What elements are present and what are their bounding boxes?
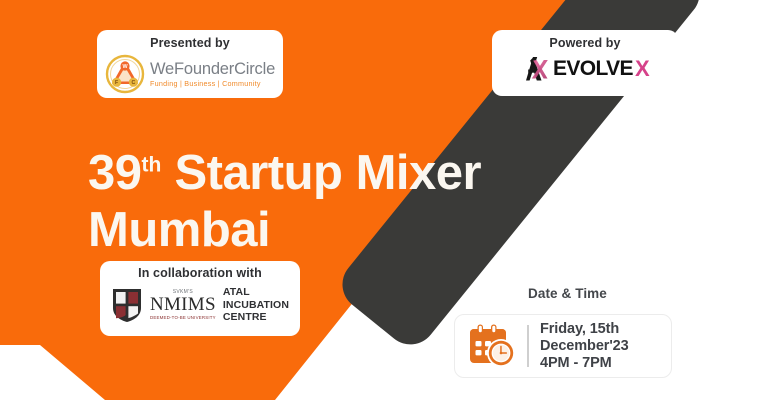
headline-line-1: 39th Startup Mixer [88, 145, 608, 202]
date-line-1: Friday, 15th [540, 321, 629, 338]
collaboration-card: In collaboration with SVKM'S NMIMS DEEME… [100, 261, 300, 336]
date-line-3: 4PM - 7PM [540, 355, 629, 372]
wefoundercircle-wordmark: WeFounderCircle Funding | Business | Com… [150, 61, 275, 87]
aic-line-1: ATAL [223, 286, 289, 299]
evolvex-wordmark: EVOLVE [553, 58, 633, 80]
date-time-text: Friday, 15th December'23 4PM - 7PM [540, 321, 629, 372]
date-time-heading: Date & Time [528, 286, 607, 301]
presented-by-label: Presented by [150, 36, 230, 51]
collaboration-logos: SVKM'S NMIMS DEEMED-TO-BE UNIVERSITY ATA… [111, 286, 289, 324]
edition-number: 39 [88, 146, 142, 200]
page-title: 39th Startup Mixer Mumbai [88, 145, 608, 259]
date-line-2: December'23 [540, 338, 629, 355]
powered-by-label: Powered by [549, 36, 620, 51]
evolvex-monogram-icon [521, 56, 551, 82]
atal-incubation-centre-name: ATAL INCUBATION CENTRE [223, 286, 289, 324]
aic-line-2: INCUBATION [223, 299, 289, 312]
wefoundercircle-logo: W F C WeFounderCircle Funding | Business… [105, 54, 275, 94]
event-banner: Presented by W F C WeFounderCircle Fundi… [0, 0, 768, 400]
wefoundercircle-triangle-icon: W F C [105, 54, 145, 94]
wefoundercircle-tagline: Funding | Business | Community [150, 80, 275, 87]
presented-by-card: Presented by W F C WeFounderCircle Fundi… [97, 30, 283, 98]
svg-text:C: C [131, 80, 135, 86]
svg-text:F: F [115, 80, 118, 86]
date-time-divider [527, 325, 529, 367]
evolvex-x-letter: X [635, 58, 649, 80]
nmims-wordmark: SVKM'S NMIMS DEEMED-TO-BE UNIVERSITY [150, 290, 216, 320]
nmims-sub-label: DEEMED-TO-BE UNIVERSITY [150, 316, 216, 320]
edition-ordinal-suffix: th [142, 154, 162, 177]
wefoundercircle-name: WeFounderCircle [150, 61, 275, 78]
evolvex-logo: EVOLVE X [521, 56, 649, 82]
calendar-clock-icon [467, 323, 519, 369]
nmims-shield-icon [111, 287, 143, 323]
powered-by-card: Powered by EVOLVE X [492, 30, 678, 96]
nmims-name: NMIMS [150, 295, 216, 315]
date-time-card: Friday, 15th December'23 4PM - 7PM [454, 314, 672, 378]
headline-line-1-rest: Startup Mixer [161, 146, 481, 200]
aic-line-3: CENTRE [223, 311, 289, 324]
headline-line-2: Mumbai [88, 202, 608, 259]
collaboration-label: In collaboration with [138, 266, 262, 281]
